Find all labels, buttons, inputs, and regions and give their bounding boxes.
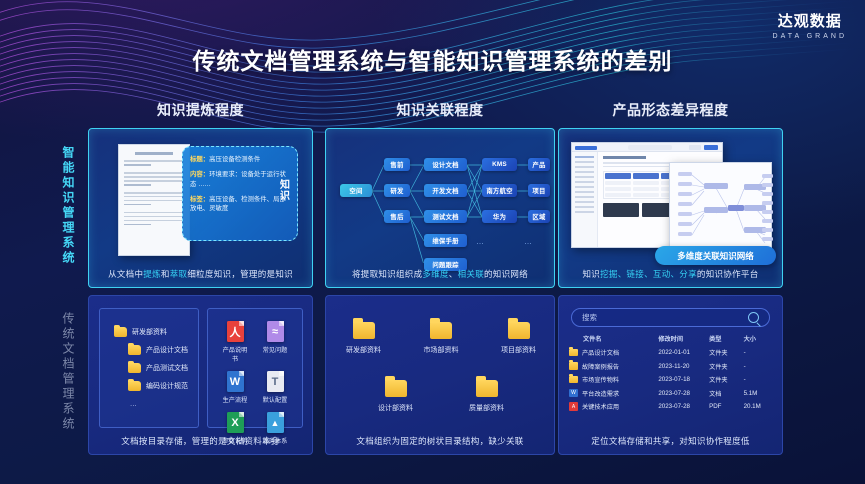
caption-highlight-2: 相关联 xyxy=(458,269,484,279)
graph-node-center xyxy=(728,205,744,211)
folder-icon xyxy=(569,376,578,384)
smart-card3-caption: 知识挖掘、链接、互动、分享的知识协作平台 xyxy=(559,268,782,280)
cell-modified: 2023-07-28 xyxy=(658,390,709,397)
screenshot-search-bar xyxy=(628,145,672,150)
folder-item[interactable]: 设计部资料 xyxy=(378,380,413,413)
file-label: 产品说明书 xyxy=(222,345,248,363)
folder-label: 项目部资料 xyxy=(501,345,536,355)
cell-modified: 2023-07-18 xyxy=(658,376,709,383)
tree-item-child[interactable]: 产品设计文档 xyxy=(128,345,188,355)
screenshot-table-header-cell xyxy=(605,173,631,179)
traditional-card1-caption: 文档按目录存储，管理的是文档资料本身 xyxy=(89,435,312,447)
file-label: 生产流程 xyxy=(222,395,248,404)
text-file-icon: T xyxy=(267,371,284,392)
folder-item[interactable]: 质量部资料 xyxy=(469,380,504,413)
folder-label: 设计部资料 xyxy=(378,403,413,413)
graph-node xyxy=(678,172,692,176)
caption-part-a: 知识 xyxy=(582,269,600,279)
tree-item-label: 产品设计文档 xyxy=(146,345,188,355)
knowledge-extraction-bubble: 标题：高压设备检测条件 内容：环境要求：设备处于运行状态 …… 标签：高压设备、… xyxy=(182,146,298,241)
bubble-key-title: 标题： xyxy=(190,156,209,163)
folder-item[interactable]: 市场部资料 xyxy=(424,322,459,355)
doc-text-line xyxy=(124,176,184,178)
file-item[interactable]: 人 产品说明书 xyxy=(222,321,248,363)
screenshot-table-cell xyxy=(633,193,659,197)
cell-filename: 市场宣传物料 xyxy=(582,375,619,384)
folder-tree-pane: 研发部资料 产品设计文档 产品测试文档 编码设计规范 ... xyxy=(99,308,199,428)
search-input[interactable]: 搜索 xyxy=(571,308,770,327)
screenshot-sidebar-item xyxy=(575,181,594,183)
mindmap-node-product[interactable]: 产品 xyxy=(528,158,550,171)
document-page-preview xyxy=(118,144,190,256)
logo-chinese-text: 达观数据 xyxy=(773,10,847,31)
screenshot-table-cell xyxy=(633,181,659,185)
knowledge-network-badge: 多维度关联知识网络 xyxy=(655,246,776,265)
doc-text-line xyxy=(124,164,151,166)
folder-icon xyxy=(128,381,141,391)
file-item[interactable]: ≈ 常见问题 xyxy=(262,321,288,363)
mindmap-node-kms[interactable]: KMS xyxy=(482,158,517,171)
screenshot-sidebar-item xyxy=(575,196,594,198)
screenshot-secondary-button xyxy=(689,145,701,150)
bubble-value-title: 高压设备检测条件 xyxy=(209,156,260,163)
caption-highlight-2: 萃取 xyxy=(170,269,188,279)
mindmap-node-rnd[interactable]: 研发 xyxy=(384,184,410,197)
file-item[interactable]: W 生产流程 xyxy=(222,371,248,404)
graph-node xyxy=(762,210,773,214)
table-row[interactable]: A关键技术应用 2023-07-28 PDF 20.1M xyxy=(569,402,772,411)
mindmap-node-huawei[interactable]: 华为 xyxy=(482,210,517,223)
traditional-card2-caption: 文档组织为固定的树状目录结构，缺少关联 xyxy=(326,435,554,447)
graph-node xyxy=(762,228,773,232)
doc-text-line xyxy=(124,220,184,222)
side-label-smart-system: 智能知识管理系统 xyxy=(52,146,74,266)
archive-file-icon: ≈ xyxy=(267,321,284,342)
screenshot-sidebar-item xyxy=(575,191,594,193)
smart-card-knowledge-network: 空间 售前 研发 售后 设计文档 开发文档 测试文档 维保手册 问题跟踪 KMS… xyxy=(325,128,555,288)
screenshot-sidebar-item xyxy=(575,201,594,203)
screenshot-sidebar xyxy=(572,152,598,247)
graph-node xyxy=(762,192,773,196)
folder-label: 质量部资料 xyxy=(469,403,504,413)
file-list-header-row: 文件名 修改时间 类型 大小 xyxy=(569,334,772,343)
mindmap-node-dev-doc[interactable]: 开发文档 xyxy=(424,184,467,197)
smart-card2-caption: 将提取知识组织成多维度、相关联的知识网络 xyxy=(326,268,554,280)
page-title: 传统文档管理系统与智能知识管理系统的差别 xyxy=(0,42,865,76)
image-file-icon: ▲ xyxy=(267,412,284,433)
bubble-row-tags: 标签：高压设备、检测条件、局部放电、灵敏度 xyxy=(190,195,290,214)
folder-tree: 研发部资料 产品设计文档 产品测试文档 编码设计规范 ... xyxy=(114,327,188,408)
mindmap-diagram: 空间 售前 研发 售后 设计文档 开发文档 测试文档 维保手册 问题跟踪 KMS… xyxy=(332,135,550,263)
screenshot-section-title xyxy=(603,156,646,159)
doc-text-line xyxy=(124,192,184,194)
column-headings: 知识提炼程度 知识关联程度 产品形态差异程度 xyxy=(0,100,865,124)
mindmap-node-root[interactable]: 空间 xyxy=(340,184,372,197)
file-list-table: 文件名 修改时间 类型 大小 产品设计文档 2022-01-01 文件夹 - 故… xyxy=(569,334,772,416)
search-placeholder-text: 搜索 xyxy=(582,312,597,323)
mindmap-node-aftersales[interactable]: 售后 xyxy=(384,210,410,223)
smart-card1-caption: 从文档中提炼和萃取细粒度知识，管理的是知识 xyxy=(89,268,312,280)
table-row[interactable]: W平台改造需求 2023-07-28 文档 5.1M xyxy=(569,389,772,398)
doc-text-line xyxy=(124,224,151,226)
smart-card-knowledge-extraction: 标题：高压设备检测条件 内容：环境要求：设备处于运行状态 …… 标签：高压设备、… xyxy=(88,128,313,288)
caption-part-b: 、 xyxy=(449,269,458,279)
mindmap-node-test-doc[interactable]: 测试文档 xyxy=(424,210,467,223)
word-file-icon: W xyxy=(227,371,244,392)
folder-icon xyxy=(508,322,530,339)
graph-node xyxy=(762,237,773,241)
folder-icon xyxy=(128,363,141,373)
tree-item-child[interactable]: 编码设计规范 xyxy=(128,381,188,391)
folder-row-2: 设计部资料 质量部资料 xyxy=(378,380,504,413)
doc-text-line xyxy=(124,184,151,186)
knowledge-side-tag: 知识 xyxy=(277,180,293,202)
graph-node xyxy=(762,219,773,223)
cell-modified: 2023-07-28 xyxy=(658,403,709,410)
file-item[interactable]: T 默认配置 xyxy=(262,371,288,404)
folder-label: 市场部资料 xyxy=(424,345,459,355)
bubble-key-tags: 标签： xyxy=(190,196,209,203)
cell-filename: 平台改造需求 xyxy=(582,389,619,398)
cell-modified: 2022-01-01 xyxy=(658,349,709,356)
graph-node xyxy=(678,192,692,196)
cell-filename: 关键技术应用 xyxy=(582,402,619,411)
screenshot-sidebar-item xyxy=(575,206,594,208)
mindmap-node-project[interactable]: 项目 xyxy=(528,184,550,197)
column-header-filename: 文件名 xyxy=(569,334,658,343)
doc-text-line xyxy=(124,200,184,202)
caption-part-a: 将提取知识组织成 xyxy=(352,269,422,279)
folder-icon xyxy=(430,322,452,339)
folder-label: 研发部资料 xyxy=(346,345,381,355)
mindmap-node-region[interactable]: 区域 xyxy=(528,210,550,223)
doc-text-line xyxy=(124,204,151,206)
cell-size: 20.1M xyxy=(744,403,772,410)
cell-type: 文件夹 xyxy=(709,362,744,371)
screenshot-table-header-cell xyxy=(633,173,659,179)
column-heading-1: 知识提炼程度 xyxy=(88,100,313,120)
folder-item[interactable]: 项目部资料 xyxy=(501,322,536,355)
caption-highlight-1: 多维度 xyxy=(422,269,448,279)
screenshot-sidebar-item xyxy=(575,186,594,188)
brand-logo: 达观数据 DATA GRAND xyxy=(773,10,847,40)
doc-text-line xyxy=(124,172,184,174)
file-grid: 人 产品说明书 ≈ 常见问题 W 生产流程 T 默认配置 X 参数说明 xyxy=(222,321,288,445)
graph-node xyxy=(762,183,773,187)
graph-node xyxy=(704,183,728,189)
traditional-card-flat-folders: 研发部资料 市场部资料 项目部资料 设计部资料 质量部资料 文档组织为固定的树状… xyxy=(325,295,555,455)
smart-card-platform: 多维度关联知识网络 知识挖掘、链接、互动、分享的知识协作平台 xyxy=(558,128,783,288)
caption-part-a: 从文档中 xyxy=(108,269,143,279)
word-file-icon: W xyxy=(569,389,578,398)
cell-size: - xyxy=(744,363,772,370)
excel-file-icon: X xyxy=(227,412,244,433)
traditional-card3-caption: 定位文档存储和共享，对知识协作程度低 xyxy=(559,435,782,447)
doc-text-line xyxy=(124,160,184,162)
screenshot-thumbnail xyxy=(603,203,639,217)
tree-item-label: 研发部资料 xyxy=(132,327,167,337)
cell-size: - xyxy=(744,349,772,356)
pdf-file-icon: 人 xyxy=(227,321,244,342)
folder-icon xyxy=(476,380,498,397)
caption-highlight-1: 挖掘、链接、互动、分享 xyxy=(600,269,697,279)
screenshot-brand-mark xyxy=(575,146,597,150)
screenshot-table-cell xyxy=(605,187,631,191)
doc-title-bar xyxy=(135,152,172,155)
folder-item[interactable]: 研发部资料 xyxy=(346,322,381,355)
mindmap-node-china-southern[interactable]: 南方航空 xyxy=(482,184,517,197)
caption-part-c: 的知识协作平台 xyxy=(697,269,759,279)
file-label: 常见问题 xyxy=(262,345,288,354)
screenshot-table-cell xyxy=(633,187,659,191)
doc-text-line xyxy=(124,216,184,218)
mindmap-node-presales[interactable]: 售前 xyxy=(384,158,410,171)
folder-icon xyxy=(353,322,375,339)
column-header-type: 类型 xyxy=(709,334,744,343)
table-row[interactable]: 产品设计文档 2022-01-01 文件夹 - xyxy=(569,348,772,357)
doc-text-line xyxy=(124,212,184,214)
mindmap-ellipsis-1: … xyxy=(476,237,485,246)
screenshot-table-cell xyxy=(605,193,631,197)
folder-icon xyxy=(569,362,578,370)
tree-item-root[interactable]: 研发部资料 xyxy=(114,327,188,337)
graph-node xyxy=(762,201,773,205)
graph-node xyxy=(762,174,773,178)
traditional-card-file-list: 搜索 文件名 修改时间 类型 大小 产品设计文档 2022-01-01 文件夹 … xyxy=(558,295,783,455)
tree-item-child[interactable]: 产品测试文档 xyxy=(128,363,188,373)
mindmap-ellipsis-2: … xyxy=(524,237,533,246)
knowledge-graph-preview xyxy=(669,162,772,254)
graph-node xyxy=(678,232,692,236)
screenshot-sidebar-item xyxy=(575,161,594,163)
folder-row-1: 研发部资料 市场部资料 项目部资料 xyxy=(346,322,536,355)
cell-modified: 2023-11-20 xyxy=(658,363,709,370)
cell-size: 5.1M xyxy=(744,390,772,397)
logo-english-text: DATA GRAND xyxy=(773,33,847,40)
screenshot-topbar xyxy=(572,143,722,152)
cell-filename: 产品设计文档 xyxy=(582,348,619,357)
screenshot-sidebar-item xyxy=(575,176,594,178)
cell-type: PDF xyxy=(709,403,744,410)
screenshot-sidebar-item xyxy=(575,156,594,158)
table-row[interactable]: 故障案例报告 2023-11-20 文件夹 - xyxy=(569,362,772,371)
file-grid-pane: 人 产品说明书 ≈ 常见问题 W 生产流程 T 默认配置 X 参数说明 xyxy=(207,308,303,428)
mindmap-node-maintenance-manual[interactable]: 维保手册 xyxy=(424,234,467,247)
graph-node xyxy=(678,212,692,216)
doc-text-line xyxy=(124,196,184,198)
bubble-row-content: 内容：环境要求：设备处于运行状态 …… xyxy=(190,170,290,189)
column-heading-3: 产品形态差异程度 xyxy=(558,100,783,120)
folder-icon xyxy=(128,345,141,355)
tree-item-label: 编码设计规范 xyxy=(146,381,188,391)
bubble-row-title: 标题：高压设备检测条件 xyxy=(190,155,290,164)
column-heading-2: 知识关联程度 xyxy=(325,100,555,120)
file-label: 默认配置 xyxy=(262,395,288,404)
folder-icon xyxy=(114,327,127,337)
caption-part-c: 细粒度知识，管理的是知识 xyxy=(187,269,293,279)
screenshot-sidebar-item xyxy=(575,166,594,168)
cell-size: - xyxy=(744,376,772,383)
cell-type: 文件夹 xyxy=(709,375,744,384)
graph-node xyxy=(678,202,692,206)
mindmap-node-design-doc[interactable]: 设计文档 xyxy=(424,158,467,171)
cell-type: 文档 xyxy=(709,389,744,398)
bubble-key-content: 内容： xyxy=(190,171,209,178)
pdf-file-icon: A xyxy=(569,402,578,411)
column-header-modified: 修改时间 xyxy=(658,334,709,343)
cell-type: 文件夹 xyxy=(709,348,744,357)
table-row[interactable]: 市场宣传物料 2023-07-18 文件夹 - xyxy=(569,375,772,384)
column-header-size: 大小 xyxy=(744,334,772,343)
folder-icon xyxy=(385,380,407,397)
screenshot-sidebar-item xyxy=(575,171,594,173)
folder-icon xyxy=(569,349,578,357)
graph-node xyxy=(704,207,728,213)
side-label-traditional-system: 传统文档管理系统 xyxy=(52,312,74,432)
caption-highlight-1: 提炼 xyxy=(143,269,161,279)
caption-part-c: 的知识网络 xyxy=(484,269,528,279)
graph-node xyxy=(678,222,692,226)
screenshot-sidebar-item xyxy=(575,211,594,213)
doc-text-line xyxy=(124,180,184,182)
graph-node xyxy=(678,182,692,186)
cell-filename: 故障案例报告 xyxy=(582,362,619,371)
tree-more-ellipsis: ... xyxy=(130,399,188,408)
screenshot-primary-button xyxy=(704,145,718,150)
slide-root: 达观数据 DATA GRAND 传统文档管理系统与智能知识管理系统的差别 知识提… xyxy=(0,0,865,484)
search-icon[interactable] xyxy=(748,312,759,323)
tree-item-label: 产品测试文档 xyxy=(146,363,188,373)
caption-part-b: 和 xyxy=(161,269,170,279)
screenshot-table-cell xyxy=(605,181,631,185)
traditional-card-folder-tree: 研发部资料 产品设计文档 产品测试文档 编码设计规范 ... xyxy=(88,295,313,455)
